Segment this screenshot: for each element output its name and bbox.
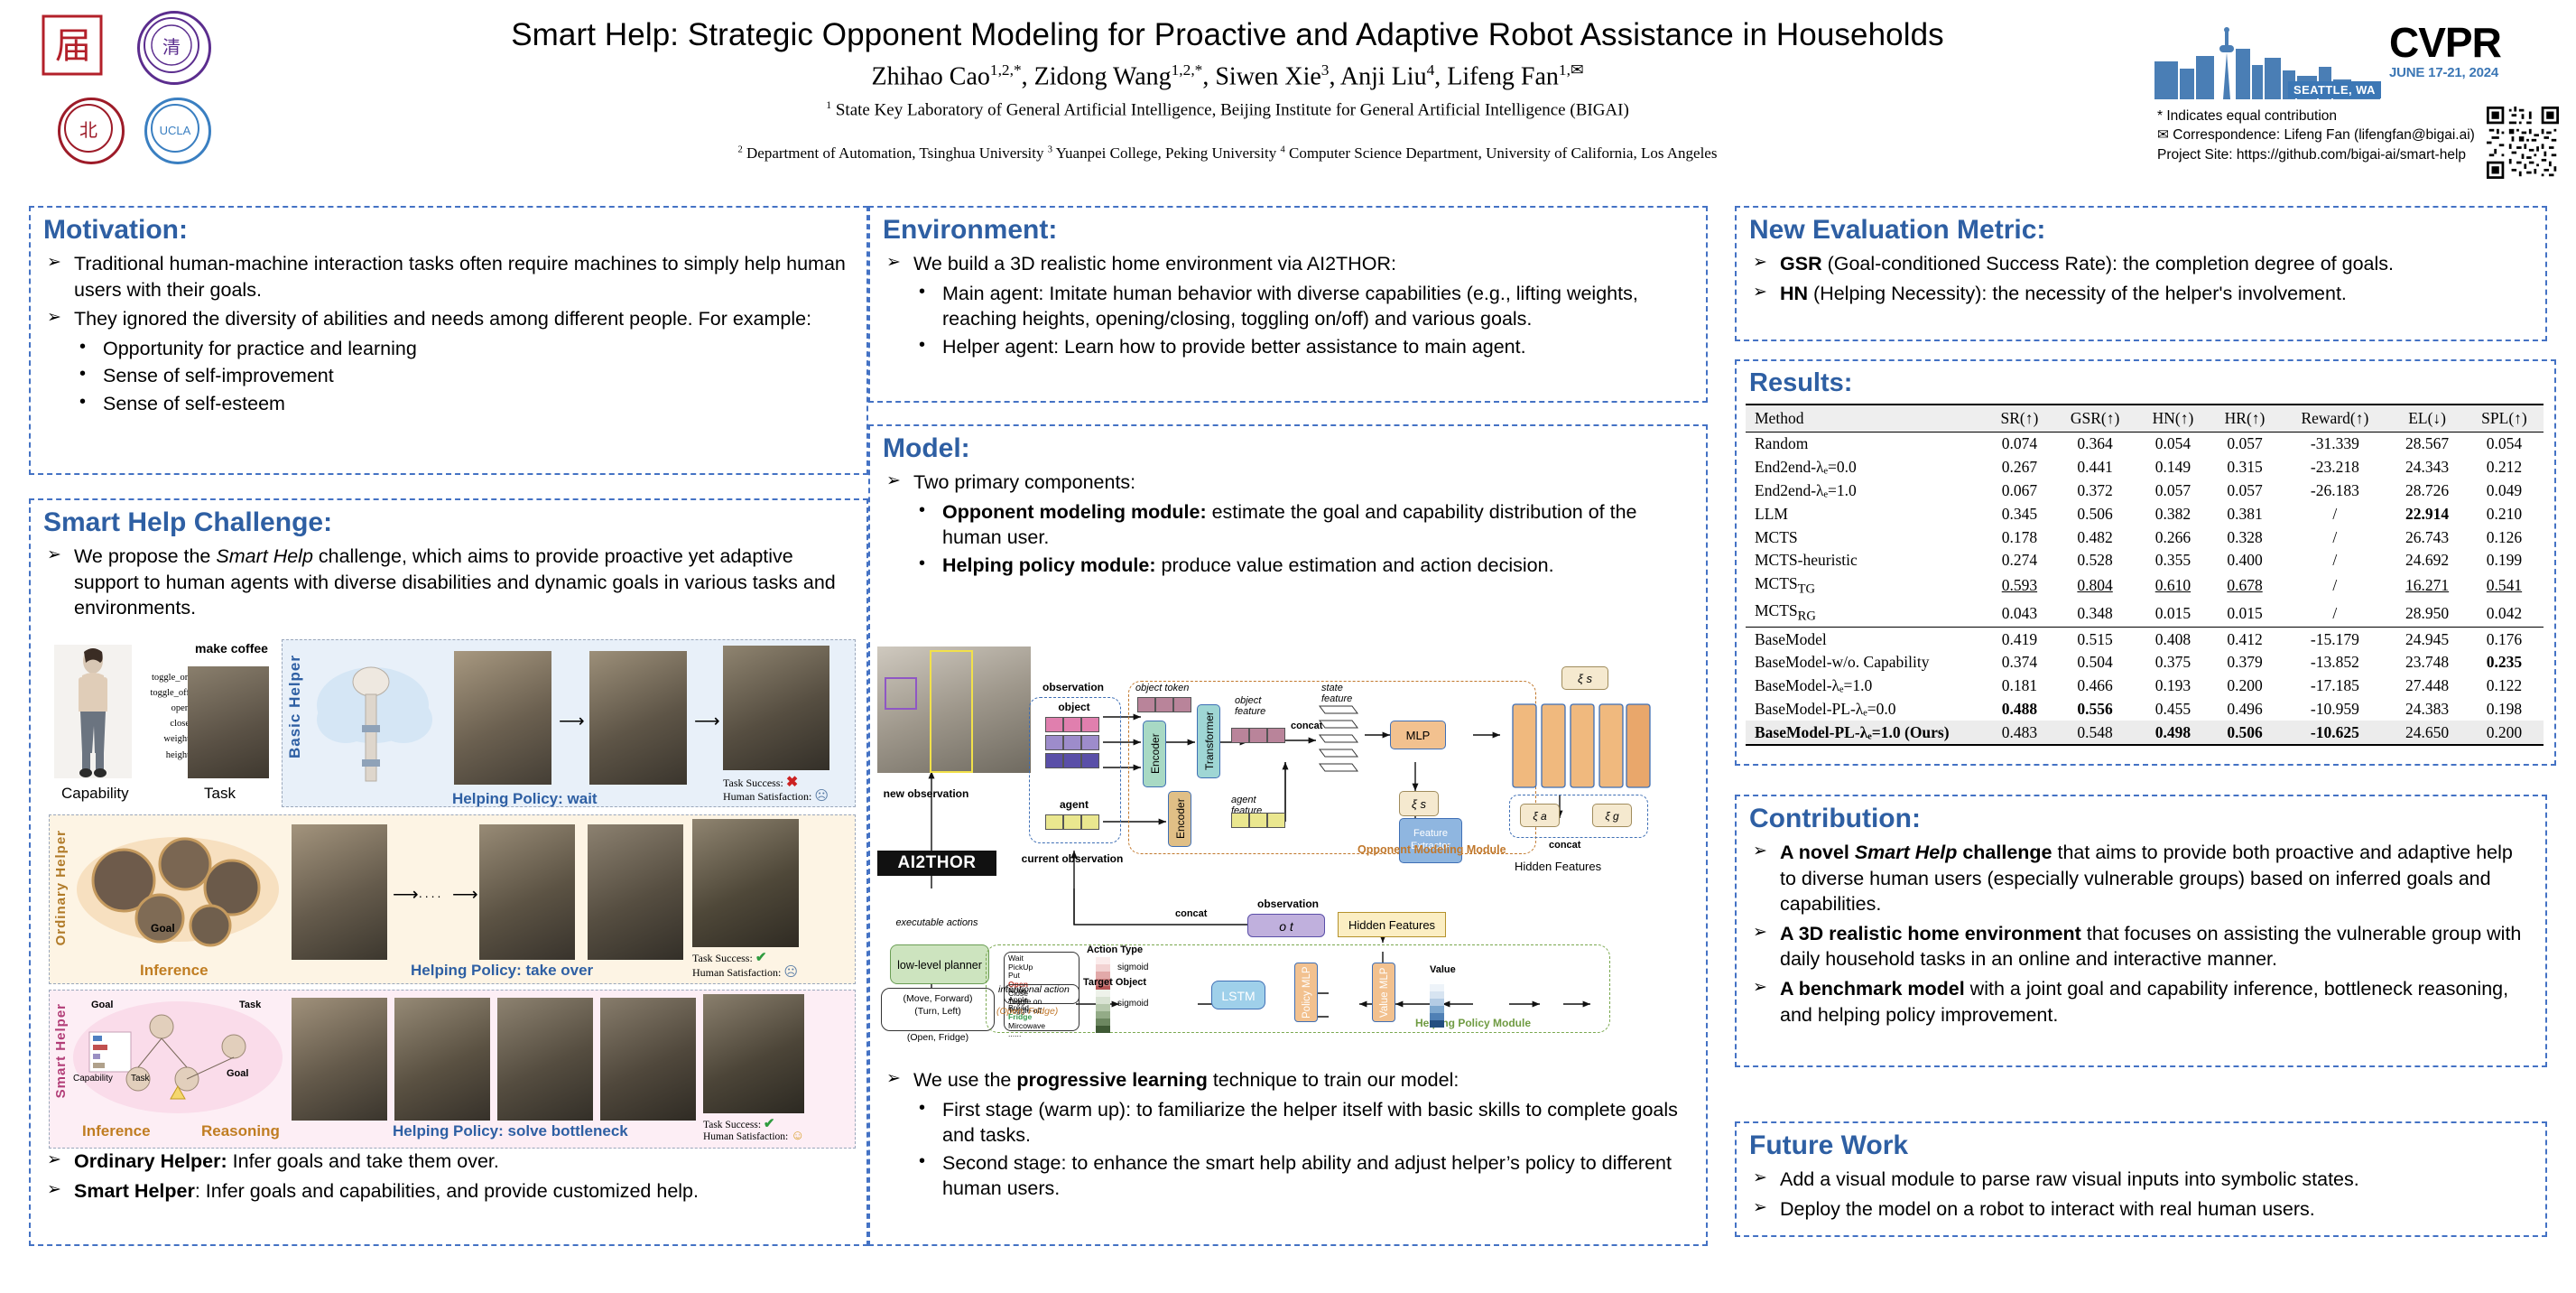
scene-image [292,998,387,1121]
correspondence-note: ✉ Correspondence: Lifeng Fan (lifengfan@… [2157,126,2482,144]
method-base: MCTS [1755,601,1798,619]
list-item: Helping policy module: produce value est… [883,553,1693,579]
value-bar [1430,977,1444,1028]
train-term: progressive learning [1016,1069,1208,1091]
concat-label-3: concat [1175,908,1207,919]
list-item: First stage (warm up): to familiarize th… [883,1097,1711,1149]
future-list: Add a visual module to parse raw visual … [1737,1167,2545,1233]
evaluation-metric-panel: New Evaluation Metric: GSR (Goal-conditi… [1735,206,2547,341]
contrib-b1: A 3D realistic home environment [1780,923,2081,944]
author-list: Zhihao Cao1,2,*, Zidong Wang1,2,*, Siwen… [379,61,2076,91]
hidden-features-box: Hidden Features [1338,912,1446,937]
cell: 0.149 [2136,456,2209,479]
cell: -26.183 [2280,479,2389,503]
affiliation-line-1: 1 State Key Laboratory of General Artifi… [379,99,2076,120]
low-level-planner-box: low-level planner [890,944,989,984]
cell: 0.466 [2053,674,2136,698]
list-item: Sense of self-improvement [43,363,854,389]
list-item: Opportunity for practice and learning [43,336,854,362]
table-row: BaseModel-λₑ=1.00.1810.4660.1930.200-17.… [1746,674,2544,698]
method-base: MCTS [1755,574,1798,592]
capability-axis-labels: toggle_on toggle_off open close weight h… [134,670,190,763]
cell: 0.328 [2210,526,2281,549]
cell: 0.381 [2210,502,2281,526]
value-mlp-box: Value MLP [1372,963,1395,1022]
xi-s-top-label: ξ s [1578,672,1592,685]
transformer-label: Transformer [1203,712,1216,771]
cell: 0.348 [2053,600,2136,628]
ucla-logo-icon: UCLA [144,98,211,164]
results-table: Method SR(↑) GSR(↑) HN(↑) HR(↑) Reward(↑… [1746,404,2544,746]
scene-image [497,998,593,1121]
cell: 0.419 [1986,628,2053,651]
object-label: object [1029,701,1119,713]
human-satisfaction-line: Human Satisfaction: ☺ [703,1129,804,1144]
cell: 0.122 [2465,674,2544,698]
axis-label: weight [134,731,190,747]
cell: 28.950 [2389,600,2465,628]
task-success-label: Task Success: [692,952,753,964]
cvpr-date: JUNE 17-21, 2024 [2389,65,2543,80]
inference-cloud-illustration [73,824,283,960]
list-item: A 3D realistic home environment that foc… [1749,921,2533,972]
cell-method: End2end-λₑ=1.0 [1746,479,1986,503]
object-token-row [1045,735,1099,750]
affiliation-line-2: 2 Department of Automation, Tsinghua Uni… [379,144,2076,163]
axis-label: toggle_on [134,670,190,685]
table-row-highlight: BaseModel-PL-λₑ=1.0 (Ours)0.4830.5480.49… [1746,721,2544,745]
axis-label: close [134,716,190,731]
cell: -15.179 [2280,628,2389,651]
cell: 0.541 [2465,572,2544,600]
contribution-panel: Contribution: A novel Smart Help challen… [1735,795,2547,1067]
axis-label: toggle_off [134,685,190,701]
ai2thor-logo-text: AI2THOR [898,853,977,872]
cell-method: BaseModel-w/o. Capability [1746,651,1986,674]
object-token-label: object token [1135,683,1189,693]
scene-image [479,824,575,960]
svg-text:清: 清 [162,36,181,58]
cell: 0.267 [1986,456,2053,479]
cell: -10.959 [2280,698,2389,721]
hn-desc: (Helping Necessity): the necessity of th… [1808,283,2347,304]
table-row: End2end-λₑ=0.00.2670.4410.1490.315-23.21… [1746,456,2544,479]
col-hn: HN(↑) [2136,405,2209,433]
agent-token-row [1045,814,1099,830]
list-item: Opponent modeling module: estimate the g… [883,499,1693,551]
cell: 24.692 [2389,549,2465,572]
table-row: LLM0.3450.5060.3820.381/22.9140.210 [1746,502,2544,526]
table-row: MCTSTG0.5930.8040.6100.678/16.2710.541 [1746,572,2544,600]
capability-mini-label: Capability [73,1074,113,1084]
reasoning-caption: Reasoning [201,1122,280,1140]
cell: 0.515 [2053,628,2136,651]
arrow-icon: ⟶ [694,712,720,730]
scene-image [703,994,804,1113]
poster-root: 届 清 北 UCL [0,0,2576,1293]
target-object-bar [1096,990,1110,1033]
motivation-heading: Motivation: [43,215,866,246]
new-observation-label: new observation [883,787,969,800]
bigai-logo-icon: 届 [40,13,107,79]
mlp-box: MLP [1390,721,1446,749]
project-site-note[interactable]: Project Site: https://github.com/bigai-a… [2157,145,2482,164]
list-item: GSR (Goal-conditioned Success Rate): the… [1749,251,2533,277]
cell-method: MCTSTG [1746,572,1986,600]
task-title: make coffee [195,641,268,657]
cell: 0.482 [2053,526,2136,549]
list-item: Sense of self-esteem [43,391,854,417]
svg-text:届: 届 [55,25,91,67]
future-heading: Future Work [1749,1130,2545,1161]
ordinary-helper-row: Ordinary Helper Goal ⟶ ..... ⟶ [49,814,856,984]
col-el: EL(↓) [2389,405,2465,433]
cell: / [2280,572,2389,600]
scene-image [600,998,696,1121]
scene-image [454,651,551,785]
train-post: technique to train our model: [1208,1069,1459,1091]
cvpr-wordmark: CVPR [2389,23,2543,63]
list-item: Add a visual module to parse raw visual … [1749,1167,2533,1193]
cell: 0.200 [2210,674,2281,698]
object-token-input [1137,697,1191,712]
cell: 27.448 [2389,674,2465,698]
executable-actions-label: executable actions [883,917,991,928]
cell: 0.126 [2465,526,2544,549]
cell: 0.057 [2136,479,2209,503]
object-item: ...... [1008,1030,1075,1039]
list-item: Two primary components: [883,470,1693,496]
cell: -17.185 [2280,674,2389,698]
opponent-module-term: Opponent modeling module: [942,501,1207,523]
list-item: Ordinary Helper: Infer goals and take th… [43,1149,872,1175]
cell: 0.193 [2136,674,2209,698]
cell: 0.610 [2136,572,2209,600]
model-panel: Model: Two primary components: Opponent … [868,424,1708,1246]
smart-helper-row: Smart Helper [49,990,856,1149]
contrib-b1: A benchmark model [1780,978,1965,1000]
smart-help-challenge-panel: Smart Help Challenge: We propose the Sma… [29,498,868,1246]
goal-mini-label: Goal [91,1000,113,1010]
cell-method: MCTS [1746,526,1986,549]
axis-label: open [134,701,190,716]
value-mlp-label: Value MLP [1379,967,1390,1017]
contrib-bi: Smart Help [1855,842,1958,863]
cell: -31.339 [2280,433,2389,456]
ai2thor-logo: AI2THOR [877,851,996,876]
cell-method: MCTS-heuristic [1746,549,1986,572]
cell-method: MCTSRG [1746,600,1986,628]
low-level-planner-label: low-level planner [897,959,982,972]
encoder-label-2: Encoder [1174,799,1187,840]
basic-helper-row: Basic Helper ⟶ ⟶ H [282,639,856,807]
model-heading: Model: [883,433,1706,464]
object-token-row [1045,717,1099,732]
task-mini-label: Task [131,1074,150,1084]
cell: 0.015 [2136,600,2209,628]
cell: 0.528 [2053,549,2136,572]
smart-helper-label: Smart Helper [53,1003,69,1098]
cell: 0.400 [2210,549,2281,572]
col-spl: SPL(↑) [2465,405,2544,433]
cell: 0.382 [2136,502,2209,526]
cell: 0.199 [2465,549,2544,572]
agent-label: agent [1029,798,1119,811]
scene-image [292,824,387,960]
feature-extractor-box: Feature Extractor [1399,818,1462,863]
table-row: BaseModel0.4190.5150.4080.412-15.17924.9… [1746,628,2544,651]
cell: 0.506 [2053,502,2136,526]
col-sr: SR(↑) [1986,405,2053,433]
scene-image [588,824,683,960]
mlp-label: MLP [1406,729,1431,742]
list-item: Main agent: Imitate human behavior with … [883,281,1693,332]
cell: 0.015 [2210,600,2281,628]
motivation-list: Traditional human-machine interaction ta… [31,251,866,426]
cell: 0.074 [1986,433,2053,456]
intentional-action-value: (Open, Fridge) [996,1006,1058,1017]
cell: 0.210 [2465,502,2544,526]
cell: 0.504 [2053,651,2136,674]
table-row: BaseModel-PL-λₑ=0.00.4880.5560.4550.496-… [1746,698,2544,721]
opponent-module-title: Opponent Modeling Module [1357,843,1506,856]
cell: 0.355 [2136,549,2209,572]
cell: 24.945 [2389,628,2465,651]
opponent-hidden-group [1509,795,1648,838]
col-gsr: GSR(↑) [2053,405,2136,433]
state-feature-label: state feature [1321,683,1372,704]
qr-code-icon[interactable] [2487,107,2559,179]
value-label: Value [1430,964,1456,975]
helping-module-desc: produce value estimation and action deci… [1156,554,1554,576]
peking-university-logo-icon: 北 [58,98,125,164]
cell: 0.372 [2053,479,2136,503]
cell: 0.176 [2465,628,2544,651]
hidden-features-right-label: Hidden Features [1515,860,1601,873]
method-subscript: TG [1798,582,1815,597]
cell-method: BaseModel-λₑ=1.0 [1746,674,1986,698]
cell: 0.374 [1986,651,2053,674]
table-row: MCTS-heuristic0.2740.5280.3550.400/24.69… [1746,549,2544,572]
cell: 0.498 [2136,721,2209,745]
cell: 0.408 [2136,628,2209,651]
method-subscript: RG [1798,609,1816,624]
environment-panel: Environment: We build a 3D realistic hom… [868,206,1708,403]
object-feature-label: object feature [1235,695,1285,717]
challenge-intro-list: We propose the Smart Help challenge, whi… [31,544,866,632]
policy-caption: Helping Policy: solve bottleneck [393,1122,628,1140]
model-training-list: We use the progressive learning techniqu… [870,1067,1724,1211]
cell: 0.178 [1986,526,2053,549]
model-architecture-diagram: new observation AI2THOR low-level planne… [877,627,1699,1033]
cell: 0.488 [1986,698,2053,721]
smart-helper-term: Smart Helper [74,1180,195,1202]
cell: 0.804 [2053,572,2136,600]
contact-notes: * Indicates equal contribution ✉ Corresp… [2157,107,2482,164]
intro-pre: We propose the [74,545,216,567]
table-row: MCTSRG0.0430.3480.0150.015/28.9500.042 [1746,600,2544,628]
cell: 24.343 [2389,456,2465,479]
challenge-outro-list: Ordinary Helper: Infer goals and take th… [31,1149,885,1214]
human-satisfaction-label: Human Satisfaction: [723,790,811,803]
scene-image [692,819,799,947]
agent-encoder-box: Encoder [1168,791,1191,847]
agent-feature-tokens [1231,813,1285,828]
ordinary-helper-desc: Infer goals and take them over. [227,1150,499,1172]
observation-symbol: o t [1279,919,1293,934]
sad-face-icon: ☹ [783,965,798,980]
institution-logos: 届 清 北 UCL [38,7,282,188]
policy-mlp-box: Policy MLP [1294,963,1318,1022]
tsinghua-logo-icon: 清 [137,11,211,85]
sigmoid-label-2: sigmoid [1117,999,1148,1009]
hn-term: HN [1780,283,1808,304]
arrow-icon: ⟶ [559,712,585,730]
observation-label: observation [1024,681,1123,693]
helping-module-term: Helping policy module: [942,554,1156,576]
list-item: A benchmark model with a joint goal and … [1749,976,2533,1028]
cvpr-badge: SEATTLE, WA CVPR JUNE 17-21, 2024 [2153,16,2541,102]
cell: 0.049 [2465,479,2544,503]
current-observation-label: current observation [1020,852,1125,865]
cell: 0.556 [2053,698,2136,721]
policy-caption: Helping Policy: take over [411,962,593,980]
list-item: Helper agent: Learn how to provide bette… [883,334,1693,360]
ordinary-helper-term: Ordinary Helper: [74,1150,227,1172]
results-heading: Results: [1749,368,2554,398]
scene-image [394,998,490,1121]
cell: 0.375 [2136,651,2209,674]
sigmoid-label-1: sigmoid [1117,963,1148,972]
cell: 0.235 [2465,651,2544,674]
cell-method: BaseModel-PL-λₑ=1.0 (Ours) [1746,721,1986,745]
list-item: They ignored the diversity of abilities … [43,306,854,332]
environment-list: We build a 3D realistic home environment… [870,251,1706,368]
cell: 0.067 [1986,479,2053,503]
inference-caption: Inference [140,962,208,980]
table-header-row: Method SR(↑) GSR(↑) HN(↑) HR(↑) Reward(↑… [1746,405,2544,433]
lstm-label: LSTM [1221,989,1255,1003]
inference-caption: Inference [82,1122,151,1140]
cell: 0.364 [2053,433,2136,456]
xi-s-box: ξ s [1399,791,1439,816]
contrib-b2: challenge [1957,842,2052,863]
cell: -10.625 [2280,721,2389,745]
encoder-label: Encoder [1149,734,1162,775]
cell: / [2280,600,2389,628]
cell: 0.412 [2210,628,2281,651]
human-satisfaction-label: Human Satisfaction: [692,966,781,979]
task-caption: Task [204,784,236,803]
ordinary-helper-label: Ordinary Helper [53,830,69,945]
cell: 0.345 [1986,502,2053,526]
col-reward: Reward(↑) [2280,405,2389,433]
cell: 0.548 [2053,721,2136,745]
xi-s-label: ξ s [1412,797,1426,811]
cell-method: End2end-λₑ=0.0 [1746,456,1986,479]
axis-label: height [134,748,190,763]
model-list: Two primary components: Opponent modelin… [870,470,1706,587]
smart-inference-illustration [71,996,284,1119]
cell: 0.057 [2210,433,2281,456]
list-item: A novel Smart Help challenge that aims t… [1749,840,2533,917]
cell-method: Random [1746,433,1986,456]
cell: 0.455 [2136,698,2209,721]
policy-mlp-label: Policy MLP [1302,966,1312,1019]
cell: 0.200 [2465,721,2544,745]
object-bbox-purple [885,677,917,710]
challenge-heading: Smart Help Challenge: [43,507,866,538]
cell: 28.726 [2389,479,2465,503]
svg-text:UCLA: UCLA [160,124,191,137]
task-scene-image [188,666,269,778]
transformer-box: Transformer [1197,704,1220,778]
scene-image [589,651,687,785]
goal-mini-label-2: Goal [227,1068,248,1079]
cell: 0.496 [2210,698,2281,721]
list-item: We propose the Smart Help challenge, whi… [43,544,854,621]
table-row: MCTS0.1780.4820.2660.328/26.7430.126 [1746,526,2544,549]
cell: 0.042 [2465,600,2544,628]
robot-cloud-illustration [310,649,436,794]
list-item: Second stage: to enhance the smart help … [883,1150,1711,1202]
cell: -23.218 [2280,456,2389,479]
list-item: Traditional human-machine interaction ta… [43,251,854,302]
list-item: Deploy the model on a robot to interact … [1749,1196,2533,1223]
object-token-row [1045,753,1099,768]
list-item: HN (Helping Necessity): the necessity of… [1749,281,2533,307]
train-pre: We use the [913,1069,1016,1091]
future-work-panel: Future Work Add a visual module to parse… [1735,1121,2547,1237]
cell: 16.271 [2389,572,2465,600]
table-row: BaseModel-w/o. Capability0.3740.5040.375… [1746,651,2544,674]
cell: 22.914 [2389,502,2465,526]
seattle-wa-label: SEATTLE, WA [2288,81,2381,98]
gsr-term: GSR [1780,253,1822,274]
human-satisfaction-label: Human Satisfaction: [703,1131,788,1142]
cell: 0.057 [2210,479,2281,503]
sad-face-icon: ☹ [814,789,829,804]
executable-actions-box: (Move, Forward)(Turn, Left) (Open, Fridg… [881,988,995,1031]
target-object-label: Target Object [1083,977,1146,988]
cell: 24.650 [2389,721,2465,745]
cell: 0.379 [2210,651,2281,674]
object-feature-tokens [1231,728,1285,743]
intro-emphasis: Smart Help [216,545,313,567]
concat-label-2: concat [1549,840,1580,851]
cell: 0.274 [1986,549,2053,572]
table-row: End2end-λₑ=1.00.0670.3720.0570.057-26.18… [1746,479,2544,503]
page-title: Smart Help: Strategic Opponent Modeling … [379,18,2076,53]
state-feature-stack [1318,702,1359,784]
cell-method: BaseModel [1746,628,1986,651]
contribution-heading: Contribution: [1749,804,2545,834]
observation-label-2: observation [1238,898,1338,910]
robot-bbox-highlight [930,650,973,773]
human-satisfaction-line: Human Satisfaction: ☹ [723,787,829,805]
cell: 0.678 [2210,572,2281,600]
metric-list: GSR (Goal-conditioned Success Rate): the… [1737,251,2545,317]
intentional-action-label: intentional action [998,984,1070,995]
cell: 0.593 [1986,572,2053,600]
happy-face-icon: ☺ [791,1129,804,1143]
metric-heading: New Evaluation Metric: [1749,215,2545,246]
observation-symbol-box: o t [1247,914,1325,937]
goal-label: Goal [151,922,175,935]
col-method: Method [1746,405,1986,433]
contribution-list: A novel Smart Help challenge that aims t… [1737,840,2545,1038]
policy-caption: Helping Policy: wait [452,790,598,808]
